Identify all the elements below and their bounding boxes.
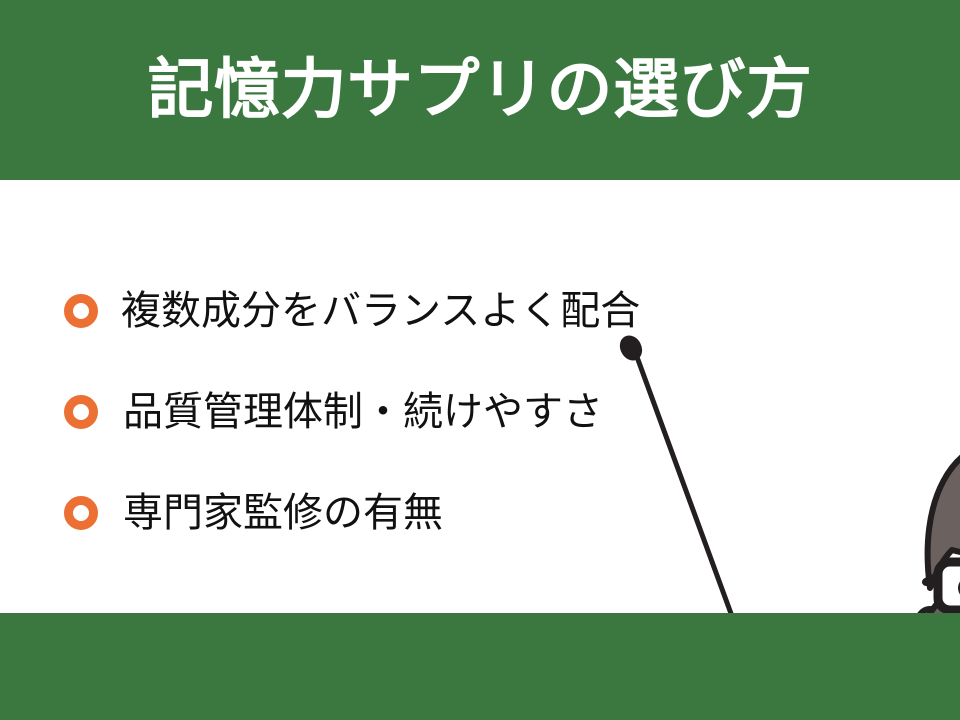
- list-item: 専門家監修の有無: [64, 462, 684, 563]
- ring-bullet-icon: [64, 395, 98, 429]
- list-item: 複数成分をバランスよく配合: [64, 260, 684, 361]
- footer-band: [0, 613, 960, 720]
- doctor-illustration: [600, 300, 960, 615]
- slide-canvas: 記憶力サプリの選び方 複数成分をバランスよく配合 品質管理体制・続けやすさ 専門…: [0, 0, 960, 720]
- ring-bullet-icon: [64, 294, 98, 328]
- head-with-glasses: [900, 440, 960, 615]
- list-item-label: 品質管理体制・続けやすさ: [121, 389, 603, 435]
- ring-bullet-icon: [64, 496, 98, 530]
- bullet-list: 複数成分をバランスよく配合 品質管理体制・続けやすさ 専門家監修の有無: [64, 260, 684, 563]
- list-item: 品質管理体制・続けやすさ: [64, 361, 684, 462]
- list-item-label: 複数成分をバランスよく配合: [121, 288, 640, 334]
- pointer-stick-icon: [618, 334, 786, 615]
- page-title: 記憶力サプリの選び方: [0, 0, 960, 180]
- list-item-label: 専門家監修の有無: [121, 490, 443, 536]
